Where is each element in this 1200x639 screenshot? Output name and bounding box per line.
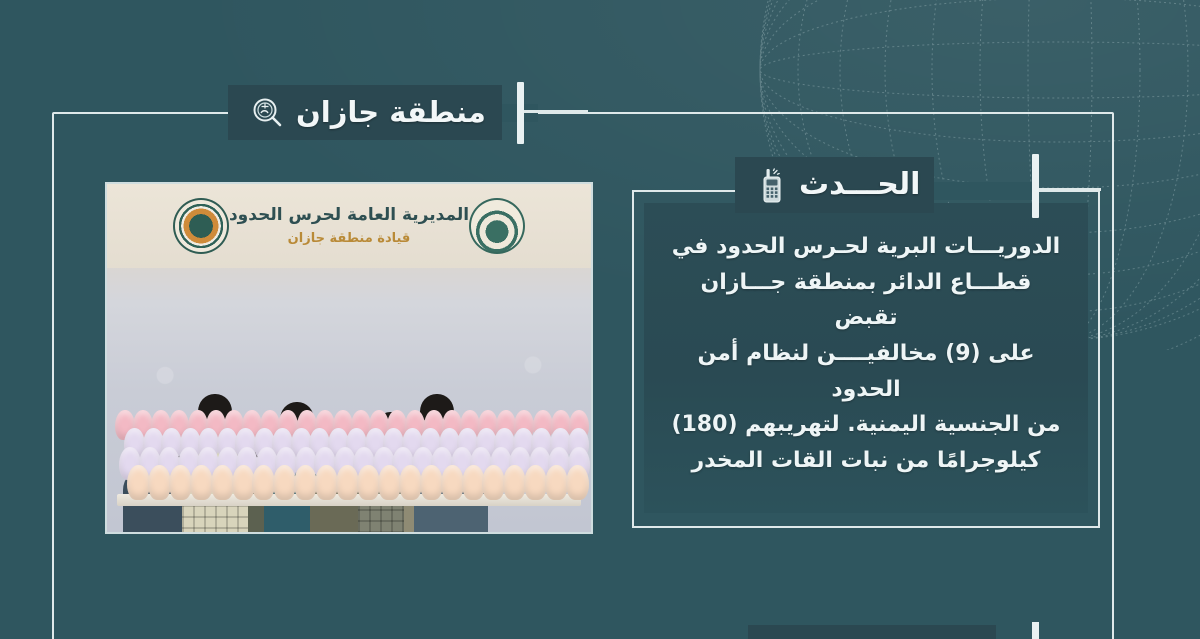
- qat-sack: [462, 465, 485, 500]
- qat-sack: [252, 465, 275, 500]
- photo-banner-line1: المديرية العامة لحرس الحدود: [229, 205, 469, 226]
- title-badge-end-bar: [517, 82, 524, 144]
- event-panel-body: الدوريـــات البرية لحـرس الحدود في قطـــ…: [644, 203, 1088, 513]
- border-guard-emblem: [173, 198, 229, 254]
- seized-qat-pile: [115, 402, 583, 514]
- event-text-line: الدوريـــات البرية لحـرس الحدود في: [670, 229, 1062, 265]
- qat-sack: [378, 465, 401, 500]
- next-section-badge: المضبوطات: [748, 625, 996, 639]
- qat-sack: [315, 465, 338, 500]
- event-text-line: من الجنسية اليمنية. لتهريبهم (180): [670, 407, 1062, 443]
- photo-banner-line2: قيادة منطقة جازان: [229, 231, 469, 247]
- event-text: الدوريـــات البرية لحـرس الحدود في قطـــ…: [670, 229, 1062, 478]
- region-title-badge: منطقة جازان: [228, 85, 502, 140]
- magnifier-emblem-icon: [250, 96, 284, 130]
- arrest-photo: المديرية العامة لحرس الحدود قيادة منطقة …: [105, 182, 593, 534]
- title-badge-lead-line: [524, 110, 588, 113]
- photo-banner: المديرية العامة لحرس الحدود قيادة منطقة …: [107, 184, 591, 268]
- event-badge-lead-line: [1039, 188, 1101, 191]
- next-section-end-bar: [1032, 622, 1039, 639]
- event-text-line: قطـــاع الدائر بمنطقة جـــازان تقبض: [670, 265, 1062, 336]
- walkie-talkie-icon: [759, 166, 785, 204]
- qat-sack: [190, 465, 213, 500]
- qat-sack: [545, 465, 568, 500]
- qat-sack: [294, 465, 317, 500]
- event-header-badge: الحـــدث: [735, 157, 934, 213]
- infographic-stage: منطقة جازان المديرية العامة لحرس الحدود …: [0, 0, 1200, 639]
- qat-sack: [503, 465, 526, 500]
- qat-sack: [399, 465, 422, 500]
- qat-sack: [420, 465, 443, 500]
- qat-sack: [357, 465, 380, 500]
- event-header-label: الحـــدث: [799, 170, 920, 200]
- qat-sack: [336, 465, 359, 500]
- event-text-line: على (9) مخالفيــــن لنظام أمن الحدود: [670, 336, 1062, 407]
- region-title-label: منطقة جازان: [296, 98, 486, 127]
- event-text-line: كيلوجرامًا من نبات القات المخدر: [670, 443, 1062, 479]
- qat-sack: [127, 465, 150, 500]
- qat-sack: [524, 465, 547, 500]
- qat-sack: [232, 465, 255, 500]
- saudi-ministry-of-interior-emblem: [469, 198, 525, 254]
- qat-sack: [441, 465, 464, 500]
- qat-sack: [169, 465, 192, 500]
- qat-sack: [482, 465, 505, 500]
- qat-sack: [211, 465, 234, 500]
- qat-sack: [273, 465, 296, 500]
- event-badge-end-bar: [1032, 154, 1039, 218]
- qat-sack: [566, 465, 589, 500]
- qat-sack: [148, 465, 171, 500]
